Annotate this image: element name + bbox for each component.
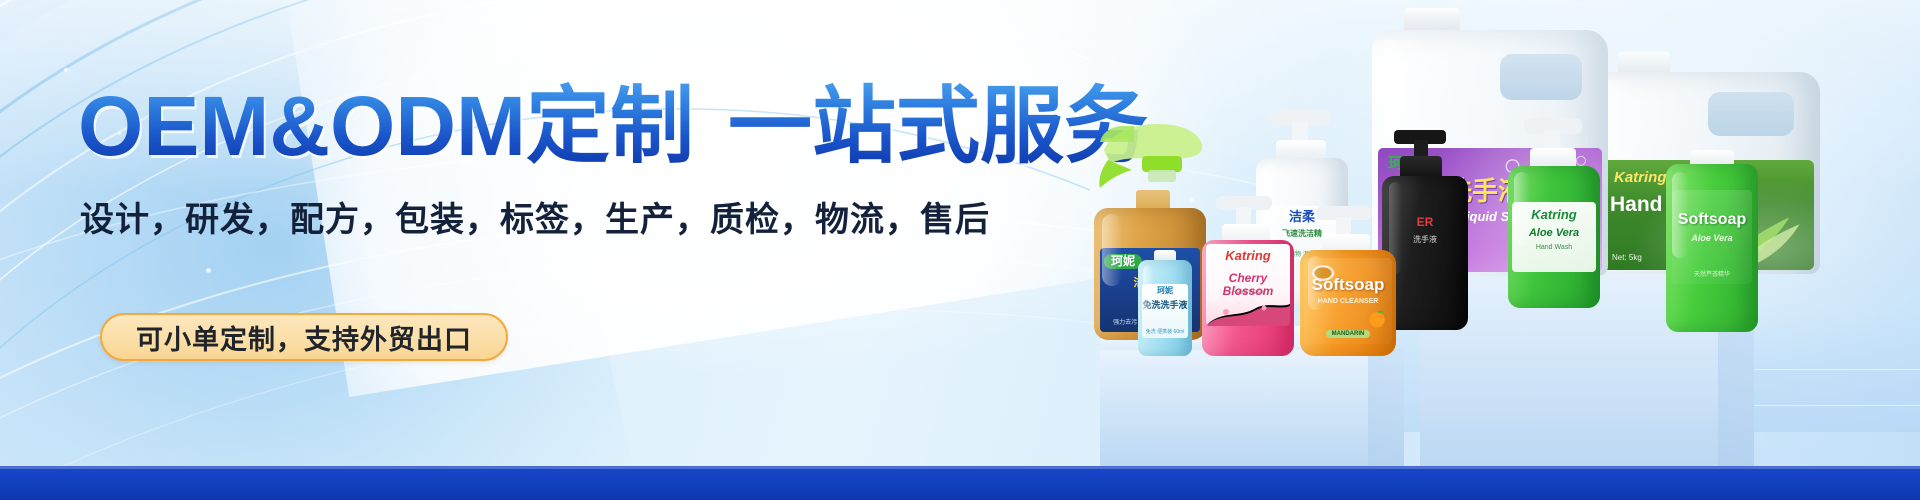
bottom-accent-bar bbox=[0, 466, 1920, 500]
blossom-splash-illustration bbox=[1206, 302, 1290, 326]
product-desc-text: 天然芦荟精华 bbox=[1672, 272, 1752, 278]
product-brand-text: Katring bbox=[1206, 249, 1290, 263]
product-brand-text: Softsoap bbox=[1672, 212, 1752, 229]
jerrycan-handle-hole bbox=[1500, 54, 1582, 100]
pump-collar bbox=[1530, 148, 1576, 168]
bottle-label: Softsoap Aloe Vera 天然芦荟精华 bbox=[1672, 190, 1752, 284]
product-name-text: Aloe Vera bbox=[1672, 234, 1752, 243]
product-cherry-blossom-hand-wash: Katring Cherry Blossom Hand Wash bbox=[1202, 196, 1294, 356]
product-katring-aloe-vera-hand-wash: Katring Aloe Vera Hand Wash bbox=[1506, 118, 1602, 308]
bottle-label: Katring Aloe Vera Hand Wash bbox=[1512, 202, 1596, 272]
bottle-label: Katring Cherry Blossom Hand Wash bbox=[1206, 244, 1290, 326]
product-name-text: 免洗洗手液 bbox=[1142, 301, 1188, 310]
jerrycan-brand-text: Katring bbox=[1614, 170, 1667, 186]
promo-banner: OEM&ODM定制一站式服务 设计，研发，配方，包装，标签，生产，质检，物流，售… bbox=[0, 0, 1920, 500]
bottom-bar-highlight bbox=[0, 466, 1920, 469]
product-subname-text: Hand Wash bbox=[1512, 244, 1596, 251]
jerrycan-net-weight: Net: 5kg bbox=[1612, 254, 1642, 262]
product-name-text: Aloe Vera bbox=[1512, 228, 1596, 240]
pump-collar bbox=[1400, 156, 1442, 178]
banner-copy: OEM&ODM定制一站式服务 设计，研发，配方，包装，标签，生产，质检，物流，售… bbox=[0, 0, 1050, 420]
bottle-label: 珂妮 免洗洗手液 免洗 便携装 60ml bbox=[1142, 284, 1188, 338]
product-hand-sanitizer-bottle: 珂妮 免洗洗手液 免洗 便携装 60ml bbox=[1138, 250, 1192, 356]
headline-part-1: OEM&ODM定制 bbox=[78, 79, 694, 173]
product-variant-text: MANDARIN bbox=[1326, 330, 1370, 338]
product-brand-text: 珂妮 bbox=[1104, 254, 1142, 269]
softsoap-logo-icon bbox=[1310, 260, 1336, 286]
product-desc-text: 洗手液 bbox=[1390, 236, 1460, 244]
pedestal-face bbox=[1100, 350, 1370, 466]
status-badge: 可小单定制，支持外贸出口 bbox=[100, 313, 508, 361]
product-subname-text: Hand Wash bbox=[1206, 290, 1290, 296]
status-badge-label: 可小单定制，支持外贸出口 bbox=[136, 318, 472, 357]
page-title: OEM&ODM定制一站式服务 bbox=[78, 78, 1148, 174]
product-brand-text: Katring bbox=[1512, 208, 1596, 222]
product-desc-text: 免洗 便携装 60ml bbox=[1142, 330, 1188, 335]
mandarin-fruit-icon bbox=[1366, 308, 1388, 330]
bottle-label: Softsoap HAND CLEANSER MANDARIN bbox=[1304, 258, 1392, 344]
service-list-subtitle: 设计，研发，配方，包装，标签，生产，质检，物流，售后 bbox=[80, 198, 990, 242]
spray-trigger-head bbox=[1086, 98, 1212, 198]
product-showcase: Katring Hand Soap Net: 5kg 珂妮 洗手液 Liquid… bbox=[990, 0, 1920, 466]
product-softsoap-hand-cleanser: Softsoap HAND CLEANSER MANDARIN bbox=[1300, 206, 1396, 356]
bottle-label: ER 洗手液 bbox=[1390, 216, 1460, 270]
product-name-text: ER bbox=[1390, 216, 1460, 229]
product-brand-text: 珂妮 bbox=[1142, 287, 1188, 295]
product-aloe-vera-softsoap: Softsoap Aloe Vera 天然芦荟精华 bbox=[1666, 150, 1758, 332]
jerrycan-handle-hole bbox=[1708, 92, 1794, 136]
product-name-text: HAND CLEANSER bbox=[1304, 298, 1392, 305]
